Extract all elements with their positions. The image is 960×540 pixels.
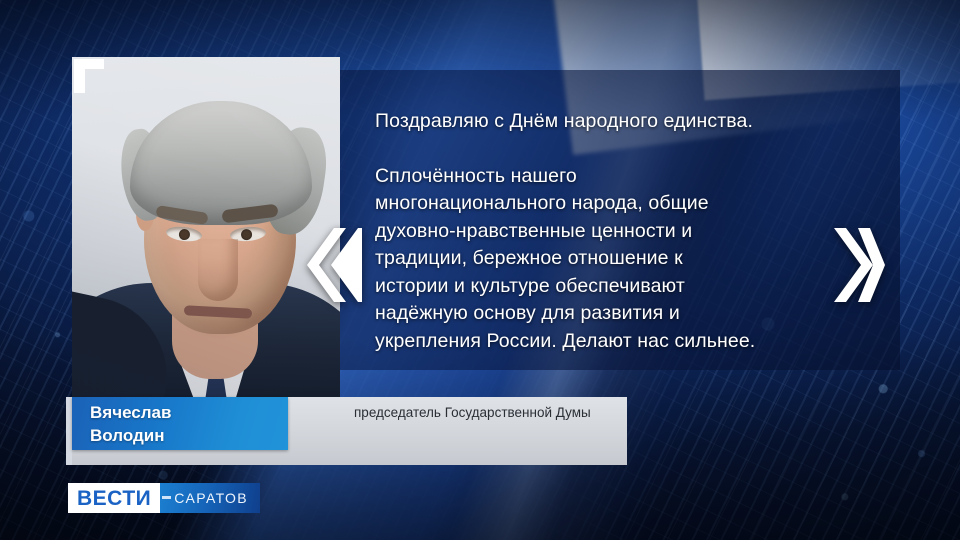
- quote-line-3: многонационального народа, общие: [375, 190, 845, 218]
- speaker-role: председатель Государственной Думы: [354, 404, 591, 422]
- quote-text: Поздравляю с Днём народного единства. Сп…: [375, 108, 845, 355]
- speaker-name: Вячеслав Володин: [90, 401, 171, 447]
- speaker-portrait: [72, 57, 340, 397]
- channel-logo: ВЕСТИ САРАТОВ: [68, 483, 260, 513]
- quote-line-5: традиции, бережное отношение к: [375, 245, 845, 273]
- quote-line-4: духовно-нравственные ценности и: [375, 218, 845, 246]
- lower-third: Вячеслав Володин председатель Государств…: [72, 397, 627, 465]
- speaker-last-name: Володин: [90, 424, 171, 447]
- portrait-shading: [72, 57, 340, 397]
- quote-line-1: Поздравляю с Днём народного единства.: [375, 108, 845, 136]
- quote-line-2: Сплочённость нашего: [375, 163, 845, 191]
- channel-logo-primary-text: ВЕСТИ: [77, 488, 151, 509]
- photo-corner-accent-horizontal: [74, 59, 104, 69]
- channel-logo-primary: ВЕСТИ: [68, 483, 160, 513]
- quote-line-7: надёжную основу для развития и: [375, 300, 845, 328]
- quote-line-6: истории и культуре обеспечивают: [375, 273, 845, 301]
- channel-logo-secondary: САРАТОВ: [160, 483, 260, 513]
- quote-open-icon: [306, 228, 362, 302]
- broadcast-frame: Поздравляю с Днём народного единства. Сп…: [0, 0, 960, 540]
- quote-line-8: укрепления России. Делают нас сильнее.: [375, 328, 845, 356]
- channel-logo-secondary-text: САРАТОВ: [174, 491, 248, 505]
- speaker-first-name: Вячеслав: [90, 401, 171, 424]
